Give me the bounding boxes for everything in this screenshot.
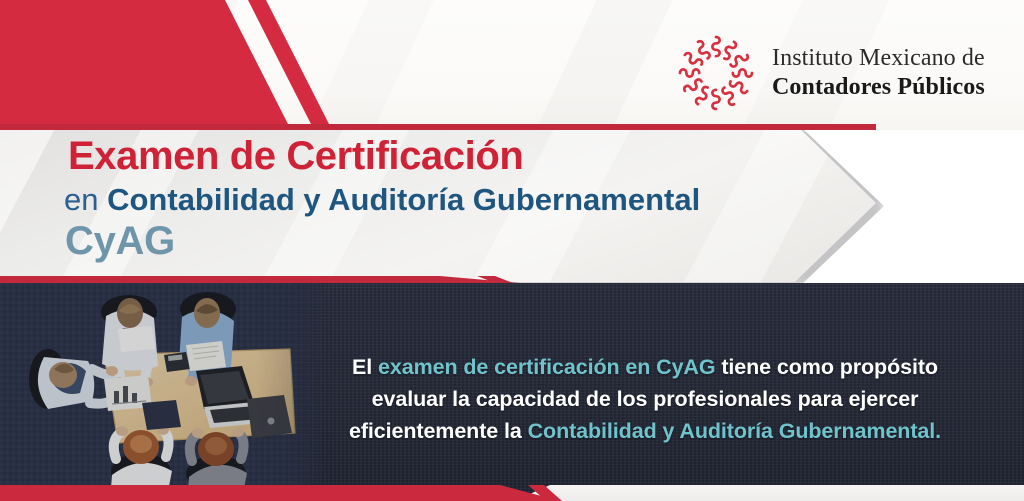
- title-line-1: Examen de Certificación: [68, 135, 868, 178]
- description-line-3: eficientemente la Contabilidad y Auditor…: [300, 416, 990, 448]
- description-line-1-part-b: tiene como propósito: [715, 355, 937, 379]
- description-line-2: evaluar la capacidad de los profesionale…: [300, 384, 990, 416]
- imcp-sunburst-icon: [676, 33, 756, 113]
- band-bottom-red-rule: [0, 276, 520, 283]
- imcp-logo: Instituto Mexicano de Contadores Público…: [676, 33, 985, 113]
- logo-line-2: Contadores Públicos: [772, 73, 985, 102]
- imcp-logo-text: Instituto Mexicano de Contadores Público…: [772, 44, 985, 103]
- page-title: Examen de Certificación en Contabilidad …: [68, 135, 868, 263]
- description-line-1-highlight: examen de certificación en CyAG: [378, 355, 715, 379]
- description-line-1-part-a: El: [352, 355, 378, 379]
- description-line-3-part-a: eficientemente la: [349, 419, 528, 443]
- description-text: El examen de certificación en CyAG tiene…: [300, 352, 990, 447]
- title-line-2-prefix: en: [64, 182, 107, 217]
- bottom-white-bar: [490, 485, 1024, 501]
- title-line-2-subject: Contabilidad y Auditoría Gubernamental: [107, 182, 700, 217]
- meeting-photo: [0, 283, 330, 501]
- band-top-red-rule: [0, 124, 876, 130]
- bottom-red-bar: [0, 485, 560, 501]
- title-acronym: CyAG: [65, 220, 868, 263]
- logo-line-1: Instituto Mexicano de: [772, 44, 985, 73]
- title-line-2: en Contabilidad y Auditoría Gubernamenta…: [64, 178, 868, 222]
- description-line-1: El examen de certificación en CyAG tiene…: [300, 352, 990, 384]
- certification-banner: Instituto Mexicano de Contadores Público…: [0, 0, 1024, 501]
- description-line-3-highlight: Contabilidad y Auditoría Gubernamental.: [528, 419, 941, 443]
